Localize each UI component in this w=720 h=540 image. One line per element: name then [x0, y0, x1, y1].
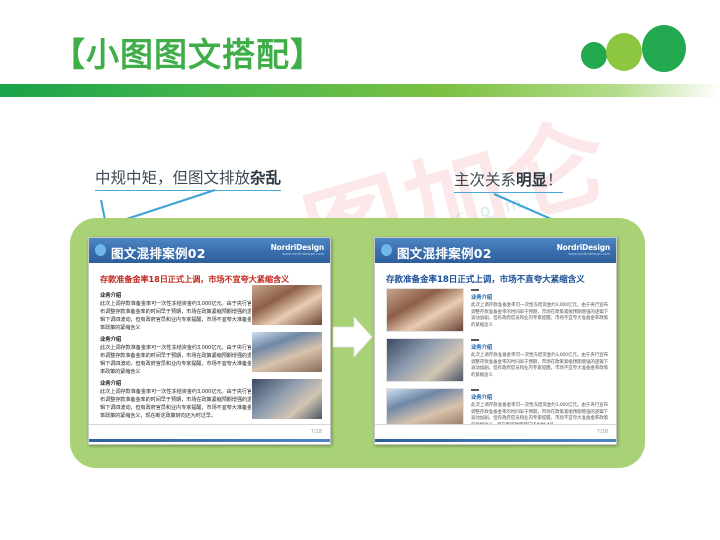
- thumbnail-after-title: 图文混排案例02: [397, 243, 492, 262]
- photo-meeting-image: [251, 331, 323, 373]
- photo-desk-image: [386, 338, 464, 382]
- thumbnail-before-body: 存款准备金率18日正式上调，市场不宜夸大紧缩含义 业务介绍 此次上调存款准备金率…: [89, 264, 330, 445]
- after-row-0-para: 此次上调存款准备金率可一次性冻结资金约3,000亿元。由于央行宣布调整存款准备金…: [471, 303, 608, 329]
- dot-large-icon: [642, 25, 686, 72]
- after-row: 业务介绍 此次上调存款准备金率可一次性冻结资金约3,000亿元。由于央行宣布调整…: [386, 338, 608, 382]
- slide-thumbnail-before[interactable]: 图文混排案例02 NordriDesign www.nordridesign.c…: [88, 237, 331, 445]
- thumbnail-after-header: 图文混排案例02 NordriDesign www.nordridesign.c…: [375, 238, 616, 264]
- before-block-0-sub: 业务介绍: [100, 291, 252, 299]
- annotation-right-plain: 主次关系: [454, 171, 516, 189]
- after-row-0-sub: 业务介绍: [471, 293, 608, 301]
- annotation-left-plain: 中规中矩，但图文排放: [95, 169, 250, 187]
- row-dash-icon: [471, 389, 479, 391]
- before-block-1-sub: 业务介绍: [100, 335, 252, 343]
- after-row: 业务介绍 此次上调存款准备金率可一次性冻结资金约3,000亿元。由于央行宣布调整…: [386, 288, 608, 332]
- after-content-rows: 业务介绍 此次上调存款准备金率可一次性冻结资金约3,000亿元。由于央行宣布调整…: [386, 288, 608, 438]
- photo-couple-image: [386, 288, 464, 332]
- header-divider-bar: [0, 84, 720, 97]
- before-block-1-para: 此次上调存款准备金率可一次性冻结资金约3,000亿元。由于央行官布调整存款准备金…: [100, 344, 252, 376]
- before-footer-rule: [89, 439, 330, 442]
- thumbnail-after-body: 存款准备金率18日正式上调，市场不直夸大紧缩含义 业务介绍 此次上调存款准备金率…: [375, 264, 616, 445]
- photo-couple-image: [251, 284, 323, 326]
- dot-small-icon: [581, 42, 607, 69]
- before-block-0-para: 此次上调存款准备金率可一次性冻结资金约3,000亿元。由于央行官布调整存款准备金…: [100, 300, 252, 332]
- before-page-number: 7/18: [311, 429, 322, 435]
- after-footer-rule: [375, 439, 616, 442]
- nordridesign-logo: NordriDesign www.nordridesign.com: [557, 244, 610, 257]
- page-title: 【小图图文搭配】: [52, 28, 324, 76]
- slide-thumbnail-after[interactable]: 图文混排案例02 NordriDesign www.nordridesign.c…: [374, 237, 617, 445]
- before-footer: 7/18: [89, 424, 330, 445]
- logo-sub-text: www.nordridesign.com: [271, 252, 324, 257]
- before-block-2-para: 此次上调存款准备金率可一次性冻结资金约3,000亿元。由于央行官布调整存款准备金…: [100, 388, 252, 420]
- after-row-1-para: 此次上调存款准备金率可一次性冻结资金约3,000亿元。由于央行宣布调整存款准备金…: [471, 353, 608, 379]
- annotation-right-suffix: ！: [547, 171, 563, 189]
- right-arrow-icon: [333, 316, 373, 358]
- annotation-left-emphasis: 杂乱: [250, 169, 281, 187]
- nordridesign-logo: NordriDesign www.nordridesign.com: [271, 244, 324, 257]
- header-bullet-icon: [381, 244, 392, 256]
- slide-canvas: 【小图图文搭配】 图加仑 c o m 中规中矩，但图文排放杂乱 主次关系明显！ …: [0, 0, 720, 540]
- logo-main-text: NordriDesign: [557, 244, 610, 252]
- header-decorative-dots: [578, 24, 698, 76]
- after-footer: 7/18: [375, 424, 616, 445]
- thumbnail-before-title: 图文混排案例02: [111, 243, 206, 262]
- photo-desk-image: [251, 378, 323, 420]
- after-row-1-sub: 业务介绍: [471, 343, 608, 351]
- before-text-column: 业务介绍 此次上调存款准备金率可一次性冻结资金约3,000亿元。由于央行官布调整…: [100, 288, 252, 420]
- before-photo-stack: [251, 284, 323, 425]
- after-page-number: 7/18: [597, 429, 608, 435]
- annotation-right-emphasis: 明显: [516, 171, 547, 189]
- logo-sub-text: www.nordridesign.com: [557, 252, 610, 257]
- after-headline: 存款准备金率18日正式上调，市场不直夸大紧缩含义: [386, 273, 608, 285]
- row-dash-icon: [471, 289, 479, 291]
- after-row-text: 业务介绍 此次上调存款准备金率可一次性冻结资金约3,000亿元。由于央行宣布调整…: [471, 288, 608, 332]
- header-bullet-icon: [95, 244, 106, 256]
- dot-medium-icon: [606, 33, 642, 71]
- row-dash-icon: [471, 339, 479, 341]
- before-block-2-sub: 业务介绍: [100, 379, 252, 387]
- thumbnail-before-header: 图文混排案例02 NordriDesign www.nordridesign.c…: [89, 238, 330, 264]
- logo-main-text: NordriDesign: [271, 244, 324, 252]
- after-row-2-sub: 业务介绍: [471, 393, 608, 401]
- after-row-text: 业务介绍 此次上调存款准备金率可一次性冻结资金约3,000亿元。由于央行宣布调整…: [471, 338, 608, 382]
